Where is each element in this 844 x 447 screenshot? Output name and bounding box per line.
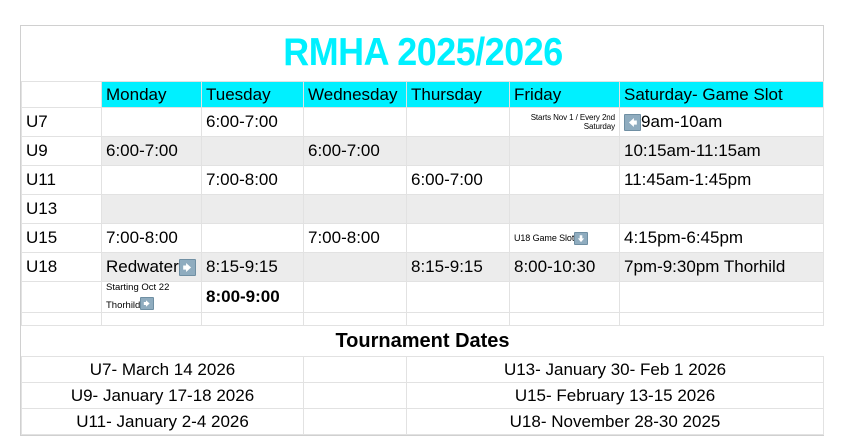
cell-u15-wednesday: 7:00-8:00: [304, 224, 407, 253]
tournament-gap-1: [304, 357, 407, 383]
title-cell: RMHA 2025/2026: [22, 26, 824, 82]
table-row: U15 7:00-8:00 7:00-8:00 U18 Game Slot 4:…: [22, 224, 824, 253]
tournament-right-3: U18- November 28-30 2025: [407, 409, 824, 435]
cell-u18-monday-text: Redwater: [106, 258, 179, 276]
day-header-thursday: Thursday: [407, 82, 510, 108]
note-u7-saturday-start: Starts Nov 1 / Every 2nd Saturday: [514, 113, 615, 131]
spacer-cell-3: [202, 313, 304, 326]
cell-u18-monday: Redwater: [102, 253, 202, 282]
cell-u15-friday: U18 Game Slot: [510, 224, 620, 253]
day-header-wednesday: Wednesday: [304, 82, 407, 108]
page-title: RMHA 2025/2026: [57, 33, 787, 74]
cell-u15-monday: 7:00-8:00: [102, 224, 202, 253]
cell-u13-tuesday: [202, 195, 304, 224]
cell-u13-monday: [102, 195, 202, 224]
cell-u11-friday: [510, 166, 620, 195]
cell-u9-friday: [510, 137, 620, 166]
cell-u13-friday: [510, 195, 620, 224]
cell-sub-friday: [510, 282, 620, 313]
tournament-gap-2: [304, 383, 407, 409]
cell-u13-saturday: [620, 195, 824, 224]
schedule-sheet: RMHA 2025/2026 Monday Tuesday Wednesday …: [20, 25, 824, 436]
cell-u18-tuesday: 8:15-9:15: [202, 253, 304, 282]
cell-u18-saturday: 7pm-9:30pm Thorhild: [620, 253, 824, 282]
row-label-u11: U11: [22, 166, 102, 195]
tournament-gap-3: [304, 409, 407, 435]
tournament-row: U9- January 17-18 2026 U15- February 13-…: [22, 383, 824, 409]
note-sub-monday-line2: Thorhild: [106, 300, 140, 312]
tournament-right-2: U15- February 13-15 2026: [407, 383, 824, 409]
arrow-left-icon: [624, 114, 641, 131]
cell-u11-tuesday: 7:00-8:00: [202, 166, 304, 195]
row-label-u18: U18: [22, 253, 102, 282]
cell-u18-thursday: 8:15-9:15: [407, 253, 510, 282]
cell-u15-saturday: 4:15pm-6:45pm: [620, 224, 824, 253]
cell-sub-monday: Starting Oct 22 Thorhild: [102, 282, 202, 313]
schedule-table: RMHA 2025/2026 Monday Tuesday Wednesday …: [21, 26, 824, 435]
row-label-u7: U7: [22, 108, 102, 137]
cell-u7-tuesday: 6:00-7:00: [202, 108, 304, 137]
header-corner-cell: [22, 82, 102, 108]
cell-u9-tuesday: [202, 137, 304, 166]
spacer-cell-5: [407, 313, 510, 326]
title-row: RMHA 2025/2026: [22, 26, 824, 82]
row-label-u9: U9: [22, 137, 102, 166]
spacer-row: [22, 313, 824, 326]
cell-sub-tuesday: 8:00-9:00: [202, 282, 304, 313]
cell-sub-saturday: [620, 282, 824, 313]
table-row: U9 6:00-7:00 6:00-7:00 10:15am-11:15am: [22, 137, 824, 166]
note-u15-u18-game-slot: U18 Game Slot: [514, 233, 574, 243]
tournament-right-1: U13- January 30- Feb 1 2026: [407, 357, 824, 383]
cell-u9-saturday: 10:15am-11:15am: [620, 137, 824, 166]
table-row: U13: [22, 195, 824, 224]
day-header-friday: Friday: [510, 82, 620, 108]
cell-u15-thursday: [407, 224, 510, 253]
arrow-down-icon: [574, 232, 588, 245]
spacer-cell-4: [304, 313, 407, 326]
table-row: U18 Redwater 8:15-9:15 8:15-9:15 8:00-10…: [22, 253, 824, 282]
cell-u9-monday: 6:00-7:00: [102, 137, 202, 166]
cell-u13-wednesday: [304, 195, 407, 224]
cell-u9-thursday: [407, 137, 510, 166]
cell-u7-saturday-text: 9am-10am: [641, 113, 722, 131]
arrow-right-icon: [179, 259, 196, 276]
spacer-cell-2: [102, 313, 202, 326]
tournament-heading-row: Tournament Dates: [22, 326, 824, 357]
tournament-row: U11- January 2-4 2026 U18- November 28-3…: [22, 409, 824, 435]
cell-u9-wednesday: 6:00-7:00: [304, 137, 407, 166]
day-header-tuesday: Tuesday: [202, 82, 304, 108]
day-header-saturday: Saturday- Game Slot: [620, 82, 824, 108]
cell-sub-wednesday: [304, 282, 407, 313]
cell-u7-saturday: 9am-10am: [620, 108, 824, 137]
cell-u7-wednesday: [304, 108, 407, 137]
day-header-row: Monday Tuesday Wednesday Thursday Friday…: [22, 82, 824, 108]
row-label-sub: [22, 282, 102, 313]
tournament-left-1: U7- March 14 2026: [22, 357, 304, 383]
table-row: U11 7:00-8:00 6:00-7:00 11:45am-1:45pm: [22, 166, 824, 195]
tournament-heading: Tournament Dates: [22, 326, 824, 357]
cell-sub-thursday: [407, 282, 510, 313]
cell-u11-saturday: 11:45am-1:45pm: [620, 166, 824, 195]
cell-u7-thursday: [407, 108, 510, 137]
tournament-left-3: U11- January 2-4 2026: [22, 409, 304, 435]
row-label-u15: U15: [22, 224, 102, 253]
cell-u11-wednesday: [304, 166, 407, 195]
cell-u11-monday: [102, 166, 202, 195]
cell-u15-tuesday: [202, 224, 304, 253]
cell-u7-friday: Starts Nov 1 / Every 2nd Saturday: [510, 108, 620, 137]
spacer-cell-6: [510, 313, 620, 326]
cell-u7-monday: [102, 108, 202, 137]
cell-u18-friday: 8:00-10:30: [510, 253, 620, 282]
cell-u11-thursday: 6:00-7:00: [407, 166, 510, 195]
day-header-monday: Monday: [102, 82, 202, 108]
tournament-row: U7- March 14 2026 U13- January 30- Feb 1…: [22, 357, 824, 383]
note-sub-monday-line1: Starting Oct 22: [106, 282, 197, 294]
arrow-right-icon: [140, 297, 154, 310]
cell-u18-wednesday: [304, 253, 407, 282]
spacer-cell-1: [22, 313, 102, 326]
table-row: U7 6:00-7:00 Starts Nov 1 / Every 2nd Sa…: [22, 108, 824, 137]
spacer-cell-7: [620, 313, 824, 326]
tournament-left-2: U9- January 17-18 2026: [22, 383, 304, 409]
table-row-sub: Starting Oct 22 Thorhild 8:00-9:00: [22, 282, 824, 313]
row-label-u13: U13: [22, 195, 102, 224]
cell-u13-thursday: [407, 195, 510, 224]
